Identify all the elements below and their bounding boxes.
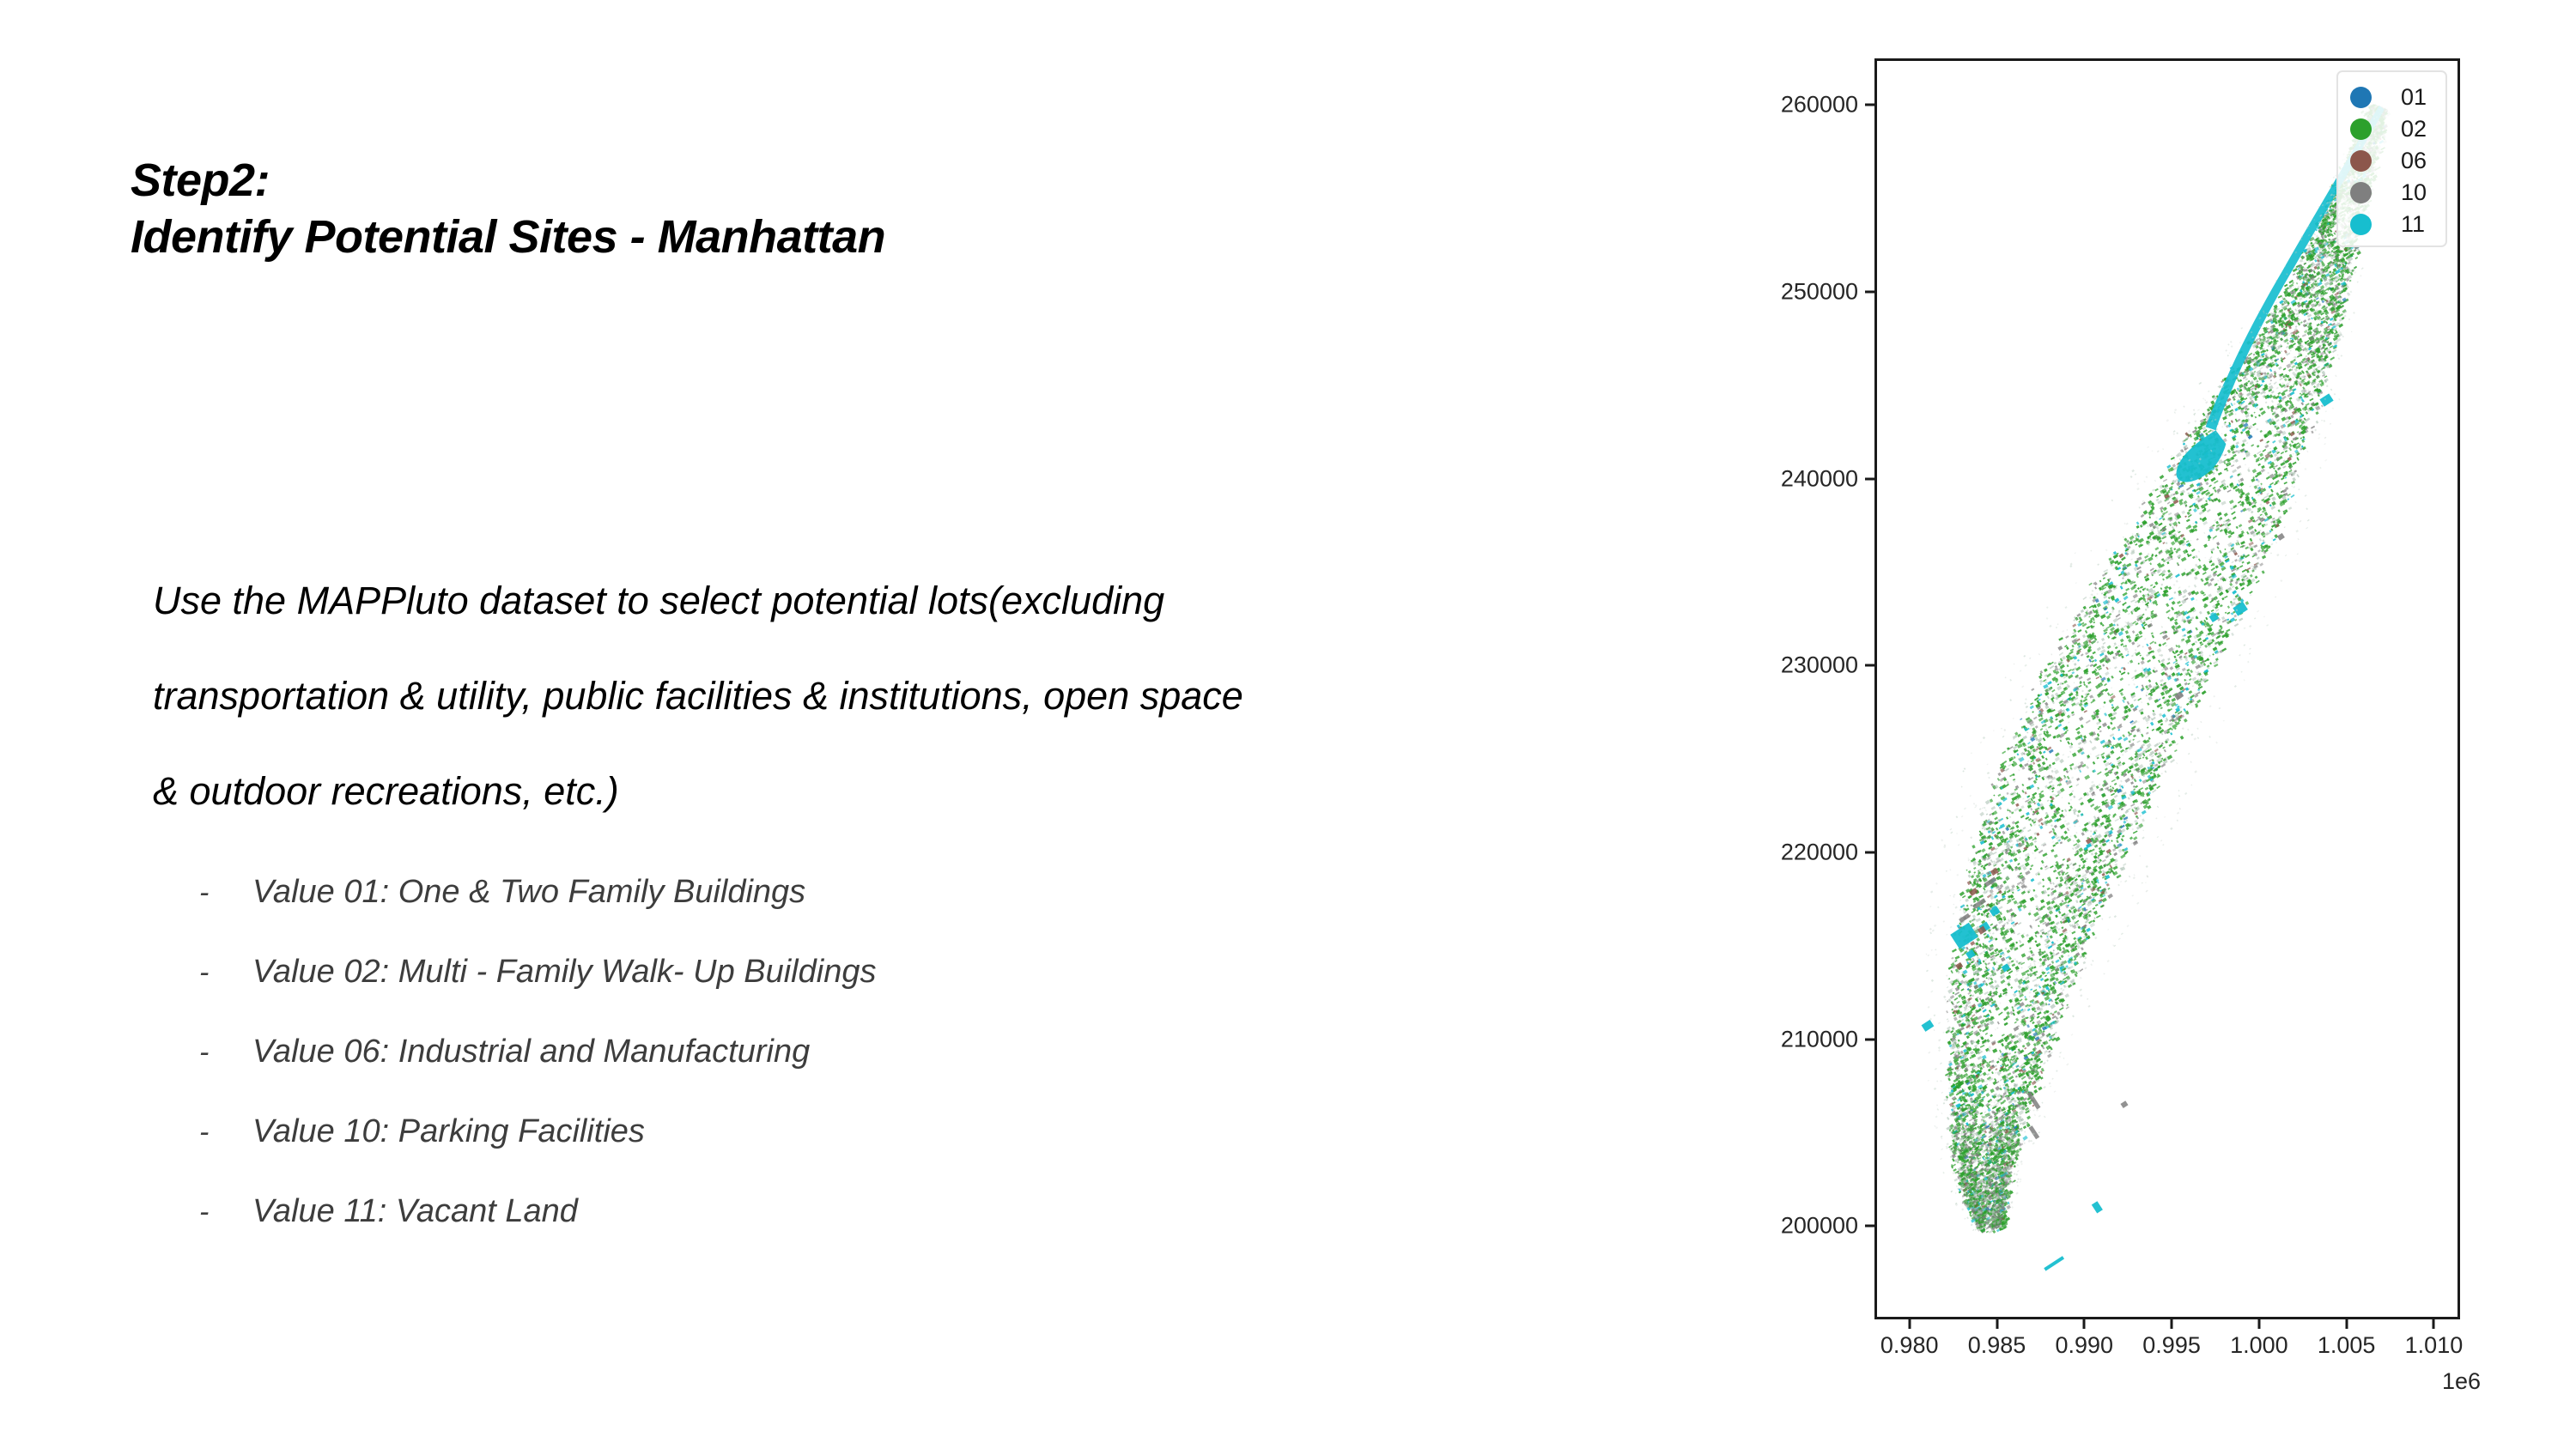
body-line-2: transportation & utility, public facilit… <box>153 648 1690 743</box>
page-title: Step2: Identify Potential Sites - Manhat… <box>131 153 1590 266</box>
legend-swatch-icon <box>2350 214 2372 235</box>
list-item-label: Value 02: Multi - Family Walk- Up Buildi… <box>252 954 876 991</box>
legend-item[interactable]: 06 <box>2338 145 2445 177</box>
legend-item[interactable]: 02 <box>2338 113 2445 145</box>
list-item: - Value 01: One & Two Family Buildings <box>199 874 1659 954</box>
list-item: - Value 11: Vacant Land <box>199 1193 1659 1273</box>
y-tick-label: 210000 <box>1781 1026 1858 1052</box>
y-tick-label: 260000 <box>1781 92 1858 118</box>
legend-item[interactable]: 11 <box>2338 209 2445 240</box>
x-tick-mark <box>2083 1319 2086 1329</box>
x-tick-label: 0.990 <box>2056 1332 2114 1359</box>
y-tick-label: 220000 <box>1781 839 1858 865</box>
x-tick-label: 1.000 <box>2230 1332 2288 1359</box>
body-paragraph: Use the MAPPluto dataset to select poten… <box>153 553 1690 839</box>
chart-legend: 01 02 06 10 11 <box>2336 70 2447 247</box>
plot-axes-frame <box>1874 58 2460 1319</box>
x-tick-label: 1.010 <box>2405 1332 2464 1359</box>
title-line-1: Step2: <box>131 153 1590 209</box>
bullet-dash-icon: - <box>199 956 252 990</box>
x-axis-offset-label: 1e6 <box>2442 1368 2481 1395</box>
list-item: - Value 02: Multi - Family Walk- Up Buil… <box>199 954 1659 1034</box>
y-tick-label: 240000 <box>1781 465 1858 492</box>
x-tick-label: 0.995 <box>2142 1332 2201 1359</box>
y-tick-label: 250000 <box>1781 279 1858 306</box>
list-item-label: Value 11: Vacant Land <box>252 1193 578 1230</box>
legend-item-label: 10 <box>2401 181 2427 204</box>
legend-item[interactable]: 01 <box>2338 82 2445 113</box>
y-tick-mark <box>1865 1038 1874 1040</box>
body-line-3: & outdoor recreations, etc.) <box>153 743 1690 839</box>
y-tick-label: 200000 <box>1781 1213 1858 1240</box>
x-tick-mark <box>2171 1319 2173 1329</box>
list-item-label: Value 10: Parking Facilities <box>252 1113 645 1150</box>
y-tick-mark <box>1865 477 1874 480</box>
x-tick-mark <box>1908 1319 1911 1329</box>
body-line-1: Use the MAPPluto dataset to select poten… <box>153 553 1690 648</box>
list-item: - Value 06: Industrial and Manufacturing <box>199 1034 1659 1113</box>
legend-item-label: 06 <box>2401 149 2427 173</box>
legend-swatch-icon <box>2350 118 2372 140</box>
y-tick-mark <box>1865 851 1874 853</box>
map-scatter-canvas <box>1877 61 2458 1317</box>
legend-item-label: 02 <box>2401 118 2427 141</box>
bullet-dash-icon: - <box>199 1116 252 1149</box>
legend-swatch-icon <box>2350 150 2372 172</box>
title-line-2: Identify Potential Sites - Manhattan <box>131 209 1590 266</box>
bullet-dash-icon: - <box>199 1036 252 1070</box>
legend-item[interactable]: 10 <box>2338 177 2445 209</box>
x-tick-label: 1.005 <box>2318 1332 2376 1359</box>
y-tick-mark <box>1865 664 1874 667</box>
x-tick-label: 0.980 <box>1880 1332 1939 1359</box>
x-tick-mark <box>2433 1319 2435 1329</box>
list-item: - Value 10: Parking Facilities <box>199 1113 1659 1193</box>
y-tick-mark <box>1865 1225 1874 1228</box>
list-item-label: Value 06: Industrial and Manufacturing <box>252 1034 810 1070</box>
list-item-label: Value 01: One & Two Family Buildings <box>252 874 805 911</box>
y-tick-mark <box>1865 291 1874 294</box>
x-tick-mark <box>2345 1319 2348 1329</box>
slide-text-column: Step2: Identify Potential Sites - Manhat… <box>0 0 1752 1449</box>
x-tick-mark <box>1996 1319 1998 1329</box>
legend-item-label: 01 <box>2401 86 2427 109</box>
manhattan-scatter-chart: 2000002100002200002300002400002500002600… <box>1752 0 2576 1449</box>
bullet-list: - Value 01: One & Two Family Buildings -… <box>199 874 1659 1273</box>
legend-swatch-icon <box>2350 87 2372 108</box>
bullet-dash-icon: - <box>199 1196 252 1229</box>
y-tick-label: 230000 <box>1781 652 1858 679</box>
y-tick-mark <box>1865 104 1874 106</box>
x-tick-label: 0.985 <box>1968 1332 2026 1359</box>
bullet-dash-icon: - <box>199 876 252 910</box>
legend-swatch-icon <box>2350 182 2372 203</box>
x-tick-mark <box>2257 1319 2260 1329</box>
legend-item-label: 11 <box>2401 213 2425 236</box>
